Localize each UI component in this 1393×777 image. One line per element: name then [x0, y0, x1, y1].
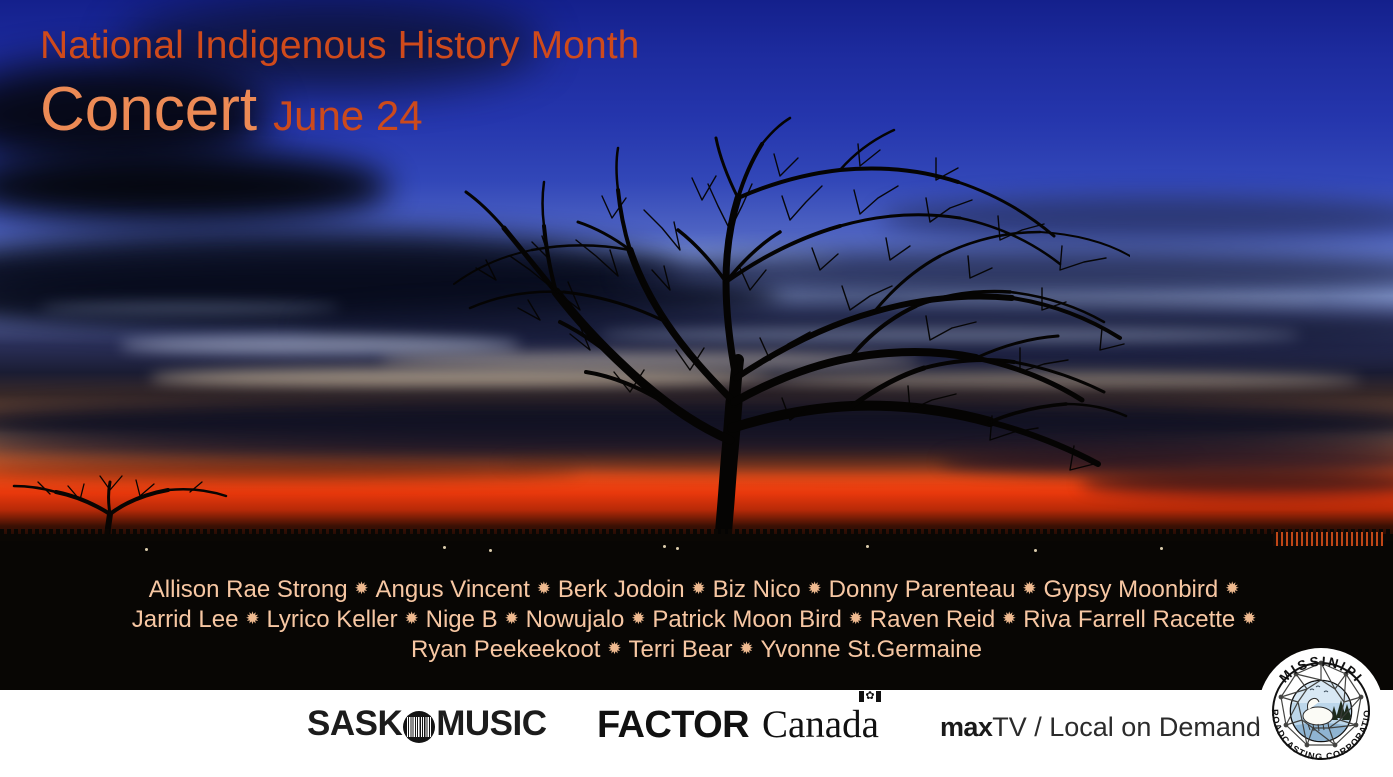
saskmusic-globe-icon	[403, 711, 435, 743]
sunburst-separator-icon: ✹	[239, 604, 265, 634]
saskmusic-logo[interactable]: SASK MUSIC	[307, 704, 547, 744]
sunburst-separator-icon: ✹	[1016, 574, 1042, 604]
bare-tree-silhouette	[430, 110, 1130, 550]
sunburst-separator-icon: ✹	[1236, 604, 1262, 634]
sunburst-separator-icon: ✹	[843, 604, 869, 634]
distant-light	[663, 545, 666, 548]
performer-row: Allison Rae Strong✹Angus Vincent✹Berk Jo…	[0, 575, 1393, 605]
performer-name: Patrick Moon Bird	[651, 605, 842, 635]
performer-name: Terri Bear	[627, 635, 733, 665]
performer-name: Angus Vincent	[375, 575, 531, 605]
event-title-row: Concert June 24	[40, 79, 639, 141]
event-title-text: Concert	[40, 79, 257, 141]
factor-wordmark: FACTOR	[597, 704, 749, 747]
sunburst-separator-icon: ✹	[499, 604, 525, 634]
performer-name: Jarrid Lee	[131, 605, 240, 635]
sunburst-separator-icon: ✹	[802, 574, 828, 604]
performer-name: Riva Farrell Racette	[1022, 605, 1236, 635]
performer-name: Allison Rae Strong	[148, 575, 349, 605]
performer-name: Raven Reid	[869, 605, 996, 635]
sunburst-separator-icon: ✹	[349, 574, 375, 604]
concert-poster: National Indigenous History Month Concer…	[0, 0, 1393, 777]
sunburst-separator-icon: ✹	[601, 634, 627, 664]
mbc-logo[interactable]: MISSINIPI BROADCASTING CORPORATION	[1258, 648, 1384, 774]
lit-cloud	[40, 302, 340, 314]
distant-light	[866, 545, 869, 548]
performer-name: Gypsy Moonbird	[1042, 575, 1219, 605]
performer-row: Jarrid Lee✹Lyrico Keller✹Nige B✹Nowujalo…	[0, 605, 1393, 635]
maxtv-rest-text: TV / Local on Demand	[992, 712, 1261, 742]
sponsor-logos: SASK MUSIC FACTOR Canada ✿ maxTV / Local…	[0, 690, 1393, 777]
performer-name: Ryan Peekeekoot	[410, 635, 601, 665]
performer-name: Donny Parenteau	[828, 575, 1017, 605]
performer-list: Allison Rae Strong✹Angus Vincent✹Berk Jo…	[0, 575, 1393, 665]
distant-light	[1034, 549, 1037, 552]
sunburst-separator-icon: ✹	[1219, 574, 1245, 604]
distant-light	[676, 547, 679, 550]
maxtv-bold-text: max	[940, 712, 992, 742]
distant-light	[1160, 547, 1163, 550]
performer-name: Nige B	[425, 605, 499, 635]
canada-tail: a	[862, 703, 879, 746]
event-date-text: June 24	[273, 95, 422, 137]
canada-wordmark: Canada ✿	[762, 702, 879, 747]
performer-name: Nowujalo	[525, 605, 626, 635]
canada-text: Canad	[762, 703, 862, 746]
distant-light	[145, 548, 148, 551]
cloud-band	[0, 150, 390, 224]
performer-row: Ryan Peekeekoot✹Terri Bear✹Yvonne St.Ger…	[0, 635, 1393, 665]
sunburst-separator-icon: ✹	[531, 574, 557, 604]
sunburst-separator-icon: ✹	[686, 574, 712, 604]
title-block: National Indigenous History Month Concer…	[40, 26, 639, 141]
performer-name: Berk Jodoin	[557, 575, 686, 605]
sunburst-separator-icon: ✹	[734, 634, 760, 664]
sunburst-separator-icon: ✹	[996, 604, 1022, 634]
maxtv-logo[interactable]: maxTV / Local on Demand	[940, 712, 1261, 743]
saskmusic-text-pre: SASK	[307, 704, 402, 744]
sunburst-separator-icon: ✹	[399, 604, 425, 634]
distant-light	[489, 549, 492, 552]
canada-wordmark-flag-icon: ✿	[859, 691, 881, 702]
distant-structure-lights	[1273, 532, 1383, 546]
saskmusic-text-post: MUSIC	[436, 704, 546, 744]
sunburst-separator-icon: ✹	[625, 604, 651, 634]
factor-canada-logo[interactable]: FACTOR Canada ✿	[597, 702, 879, 747]
performer-name: Biz Nico	[712, 575, 802, 605]
distant-light	[443, 546, 446, 549]
performer-name: Lyrico Keller	[265, 605, 398, 635]
performer-name: Yvonne St.Germaine	[760, 635, 983, 665]
headline-text: National Indigenous History Month	[40, 26, 639, 65]
